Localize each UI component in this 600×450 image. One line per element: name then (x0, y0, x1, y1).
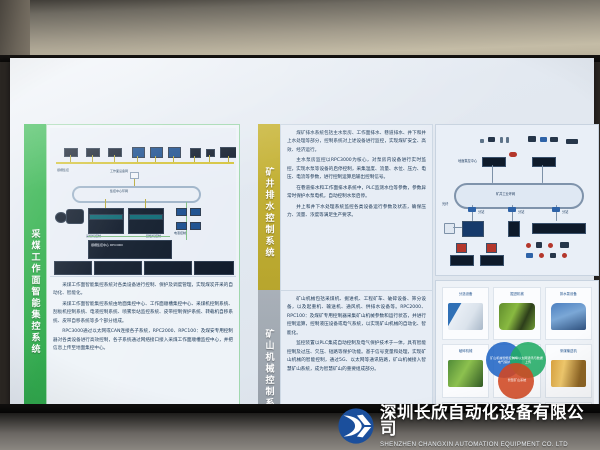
device-icon (526, 253, 533, 258)
logo-mark-icon (337, 407, 375, 445)
product-caption: 排水泵设备 (546, 291, 591, 296)
product-image (448, 303, 483, 330)
diagram-link (173, 156, 174, 162)
topology-node (456, 243, 467, 253)
product-image (448, 360, 483, 387)
topology-node (532, 223, 586, 234)
product-cell[interactable]: 掘进机械 (493, 287, 540, 340)
industrial-ring-network (454, 183, 584, 209)
device-icon (562, 253, 567, 258)
colliery-architecture-diagram: 顺槽集控 工作面设备网 集控中心环网 (50, 128, 236, 277)
product-cell[interactable]: 排水泵设备 (545, 287, 592, 340)
diagram-node (190, 148, 201, 158)
diagram-link (114, 155, 115, 162)
switch-icon (468, 207, 476, 212)
tab-mine-drainage-control-system[interactable]: 矿井排水控制系统 (258, 124, 280, 302)
device-photo (66, 209, 84, 224)
switch-icon (540, 137, 547, 142)
colliery-paragraph: 采煤工作面智能集控系统对各类设备进行控制、保护及调度管理，实现煤炭开采的自动化、… (53, 282, 233, 299)
room-wall (0, 0, 600, 62)
tab-drainage-label: 矿井排水控制系统 (265, 167, 274, 259)
fieldbus-line (56, 162, 234, 164)
panel-network-topology[interactable]: 地面集控中心 矿井工业环网 光纤 分站 分站 分站 (435, 124, 599, 276)
product-caption: 分选设备 (443, 291, 488, 296)
diagram-node (190, 222, 201, 230)
logo-text: 深圳长欣自动化设备有限公司 SHENZHEN CHANGXIN AUTOMATI… (380, 405, 595, 448)
product-image (551, 303, 586, 330)
topology-node (480, 255, 504, 266)
topology-node (508, 221, 520, 237)
device-icon (550, 253, 556, 258)
router-icon (550, 137, 558, 142)
photo-scene: 采煤工作面智能集控系统 (0, 0, 600, 450)
workstation-icon (480, 139, 484, 143)
device-icon (526, 243, 531, 248)
diagram-link (92, 155, 93, 162)
diagram-node (132, 147, 145, 158)
tab-colliery-control-system[interactable]: 采煤工作面智能集控系统 (24, 124, 46, 450)
venn-label-smart-mine: 智慧矿山系统 (502, 378, 532, 382)
venn-diagram: 矿山机械智能控制与电气保护 5G/以太网通讯与数据上传 智慧矿山系统 (486, 342, 548, 400)
topology-node (450, 255, 474, 266)
topology-node (486, 243, 497, 253)
panel-mine-drainage-control-system[interactable]: 矿井排水控制系统 煤矿排水系统包括主水泵房、工作面排水、巷道排水、井下和井上水处… (258, 124, 433, 302)
diagram-node (176, 208, 187, 216)
subsystem-box (194, 261, 234, 275)
wall-corner (0, 0, 30, 62)
product-caption: 掘进机械 (494, 291, 539, 296)
venn-label-network: 5G/以太网通讯与数据上传 (513, 356, 543, 365)
device-icon (548, 243, 553, 248)
server-rack-icon (566, 139, 578, 144)
subsystem-box (94, 261, 142, 275)
diagram-link (70, 155, 71, 162)
panel-colliery-body: 顺槽集控 工作面设备网 集控中心环网 (46, 124, 240, 450)
diagram-node (176, 222, 187, 230)
diagram-link (209, 155, 210, 162)
diagram-node (64, 148, 78, 157)
product-image (499, 303, 534, 330)
diagram-node (190, 208, 201, 216)
console-block (88, 208, 124, 234)
printer-icon (506, 137, 509, 143)
machinery-text-block: 矿山机械包括采煤机、掘进机、工程矿车、破碎设备、筛分设备，以及起重机、输送机、通… (281, 291, 432, 379)
diagram-link (155, 156, 156, 162)
console-strip (129, 214, 163, 220)
machinery-paragraph: 监控装置以PLC集成自动控制及电气保护技术于一体，具有智能控制及过压、欠压、短路… (287, 340, 426, 374)
diagram-node (206, 149, 215, 157)
company-logo: 深圳长欣自动化设备有限公司 SHENZHEN CHANGXIN AUTOMATI… (337, 406, 595, 446)
company-name-en: SHENZHEN CHANGXIN AUTOMATION EQUIPMENT C… (380, 441, 595, 448)
drainage-text-block: 煤矿排水系统包括主水泵房、工作面排水、巷道排水、井下和井上水处理等部分，控制系统… (281, 125, 432, 226)
company-name-cn: 深圳长欣自动化设备有限公司 (380, 405, 595, 438)
diagram-link (194, 156, 195, 162)
device-icon (536, 242, 542, 248)
drainage-paragraph: 煤矿排水系统包括主水泵房、工作面排水、巷道排水、井下和井上水处理等部分，控制系统… (287, 130, 426, 155)
diagram-link (228, 156, 229, 162)
panel-colliery-control-system[interactable]: 采煤工作面智能集控系统 (24, 124, 240, 450)
topology-node (462, 221, 484, 237)
console-strip (89, 214, 123, 220)
product-image (551, 360, 586, 387)
drainage-paragraph: 井上和井下水处理系统监控各类设备运行参数及状态，确保压力、流量、浓度等满足生产要… (287, 204, 426, 221)
sensor-icon (444, 223, 455, 234)
colliery-text-block: 采煤工作面智能集控系统对各类设备进行控制、保护及调度管理，实现煤炭开采的自动化、… (47, 277, 239, 359)
control-ring-bus (72, 186, 201, 203)
machinery-paragraph: 矿山机械包括采煤机、掘进机、工程矿车、破碎设备、筛分设备，以及起重机、输送机、通… (287, 296, 426, 338)
console-block (128, 208, 164, 234)
printer-icon (500, 137, 503, 143)
topology-node (482, 157, 506, 167)
product-cell[interactable]: 破碎机械 (442, 344, 489, 397)
colliery-paragraph: 采煤工作面智能集控系统由地面集控中心、工作面顺槽集控中心、采煤机控制系统、刮板机… (53, 301, 233, 326)
product-caption: 采煤输送机 (546, 348, 591, 353)
topology-link (542, 165, 543, 183)
drainage-paragraph: 主水泵房监控以RPC3000为核心，对泵房内设备进行实时监控，实现水泵等设备的启… (287, 157, 426, 182)
topology-link (453, 227, 462, 228)
diagram-link (137, 156, 138, 162)
diagram-link (145, 199, 146, 208)
diagram-link (105, 199, 106, 208)
diagram-node (130, 172, 139, 179)
server-icon (488, 137, 495, 142)
panel-drainage-body: 煤矿排水系统包括主水泵房、工作面排水、巷道排水、井下和井上水处理等部分，控制系统… (280, 124, 433, 302)
colliery-paragraph: RPC3000通过以太网或CAN连接各子系统，RPC2000、RPC100：及煤… (53, 328, 233, 353)
diagram-node (150, 147, 163, 158)
ring-label: 矿井工业环网 (496, 191, 515, 196)
camera-icon (528, 136, 536, 142)
device-icon (560, 242, 569, 248)
drainage-paragraph: 在巷道排水和工作面排水系统中，PLC监测水位等参数，参数异常时保护水泵电机，自动… (287, 185, 426, 202)
product-cell[interactable]: 分选设备 (442, 287, 489, 340)
subsystem-box (144, 261, 192, 275)
diagram-node (108, 148, 122, 157)
switch-icon (508, 207, 516, 212)
tab-colliery-label: 采煤工作面智能集控系统 (31, 229, 40, 356)
product-caption: 破碎机械 (443, 348, 488, 353)
subsystem-box (54, 261, 92, 275)
product-cell[interactable]: 采煤输送机 (545, 344, 592, 397)
diagram-node (168, 147, 181, 158)
device-icon (539, 253, 544, 258)
display-board-surface: 采煤工作面智能集控系统 (10, 58, 594, 408)
switch-icon (552, 207, 560, 212)
display-board: 采煤工作面智能集控系统 (10, 58, 594, 408)
topology-node (532, 157, 556, 167)
diagram-link (88, 236, 170, 237)
topology-link (492, 165, 493, 183)
diagram-node (86, 148, 100, 157)
alarm-icon (509, 152, 517, 157)
